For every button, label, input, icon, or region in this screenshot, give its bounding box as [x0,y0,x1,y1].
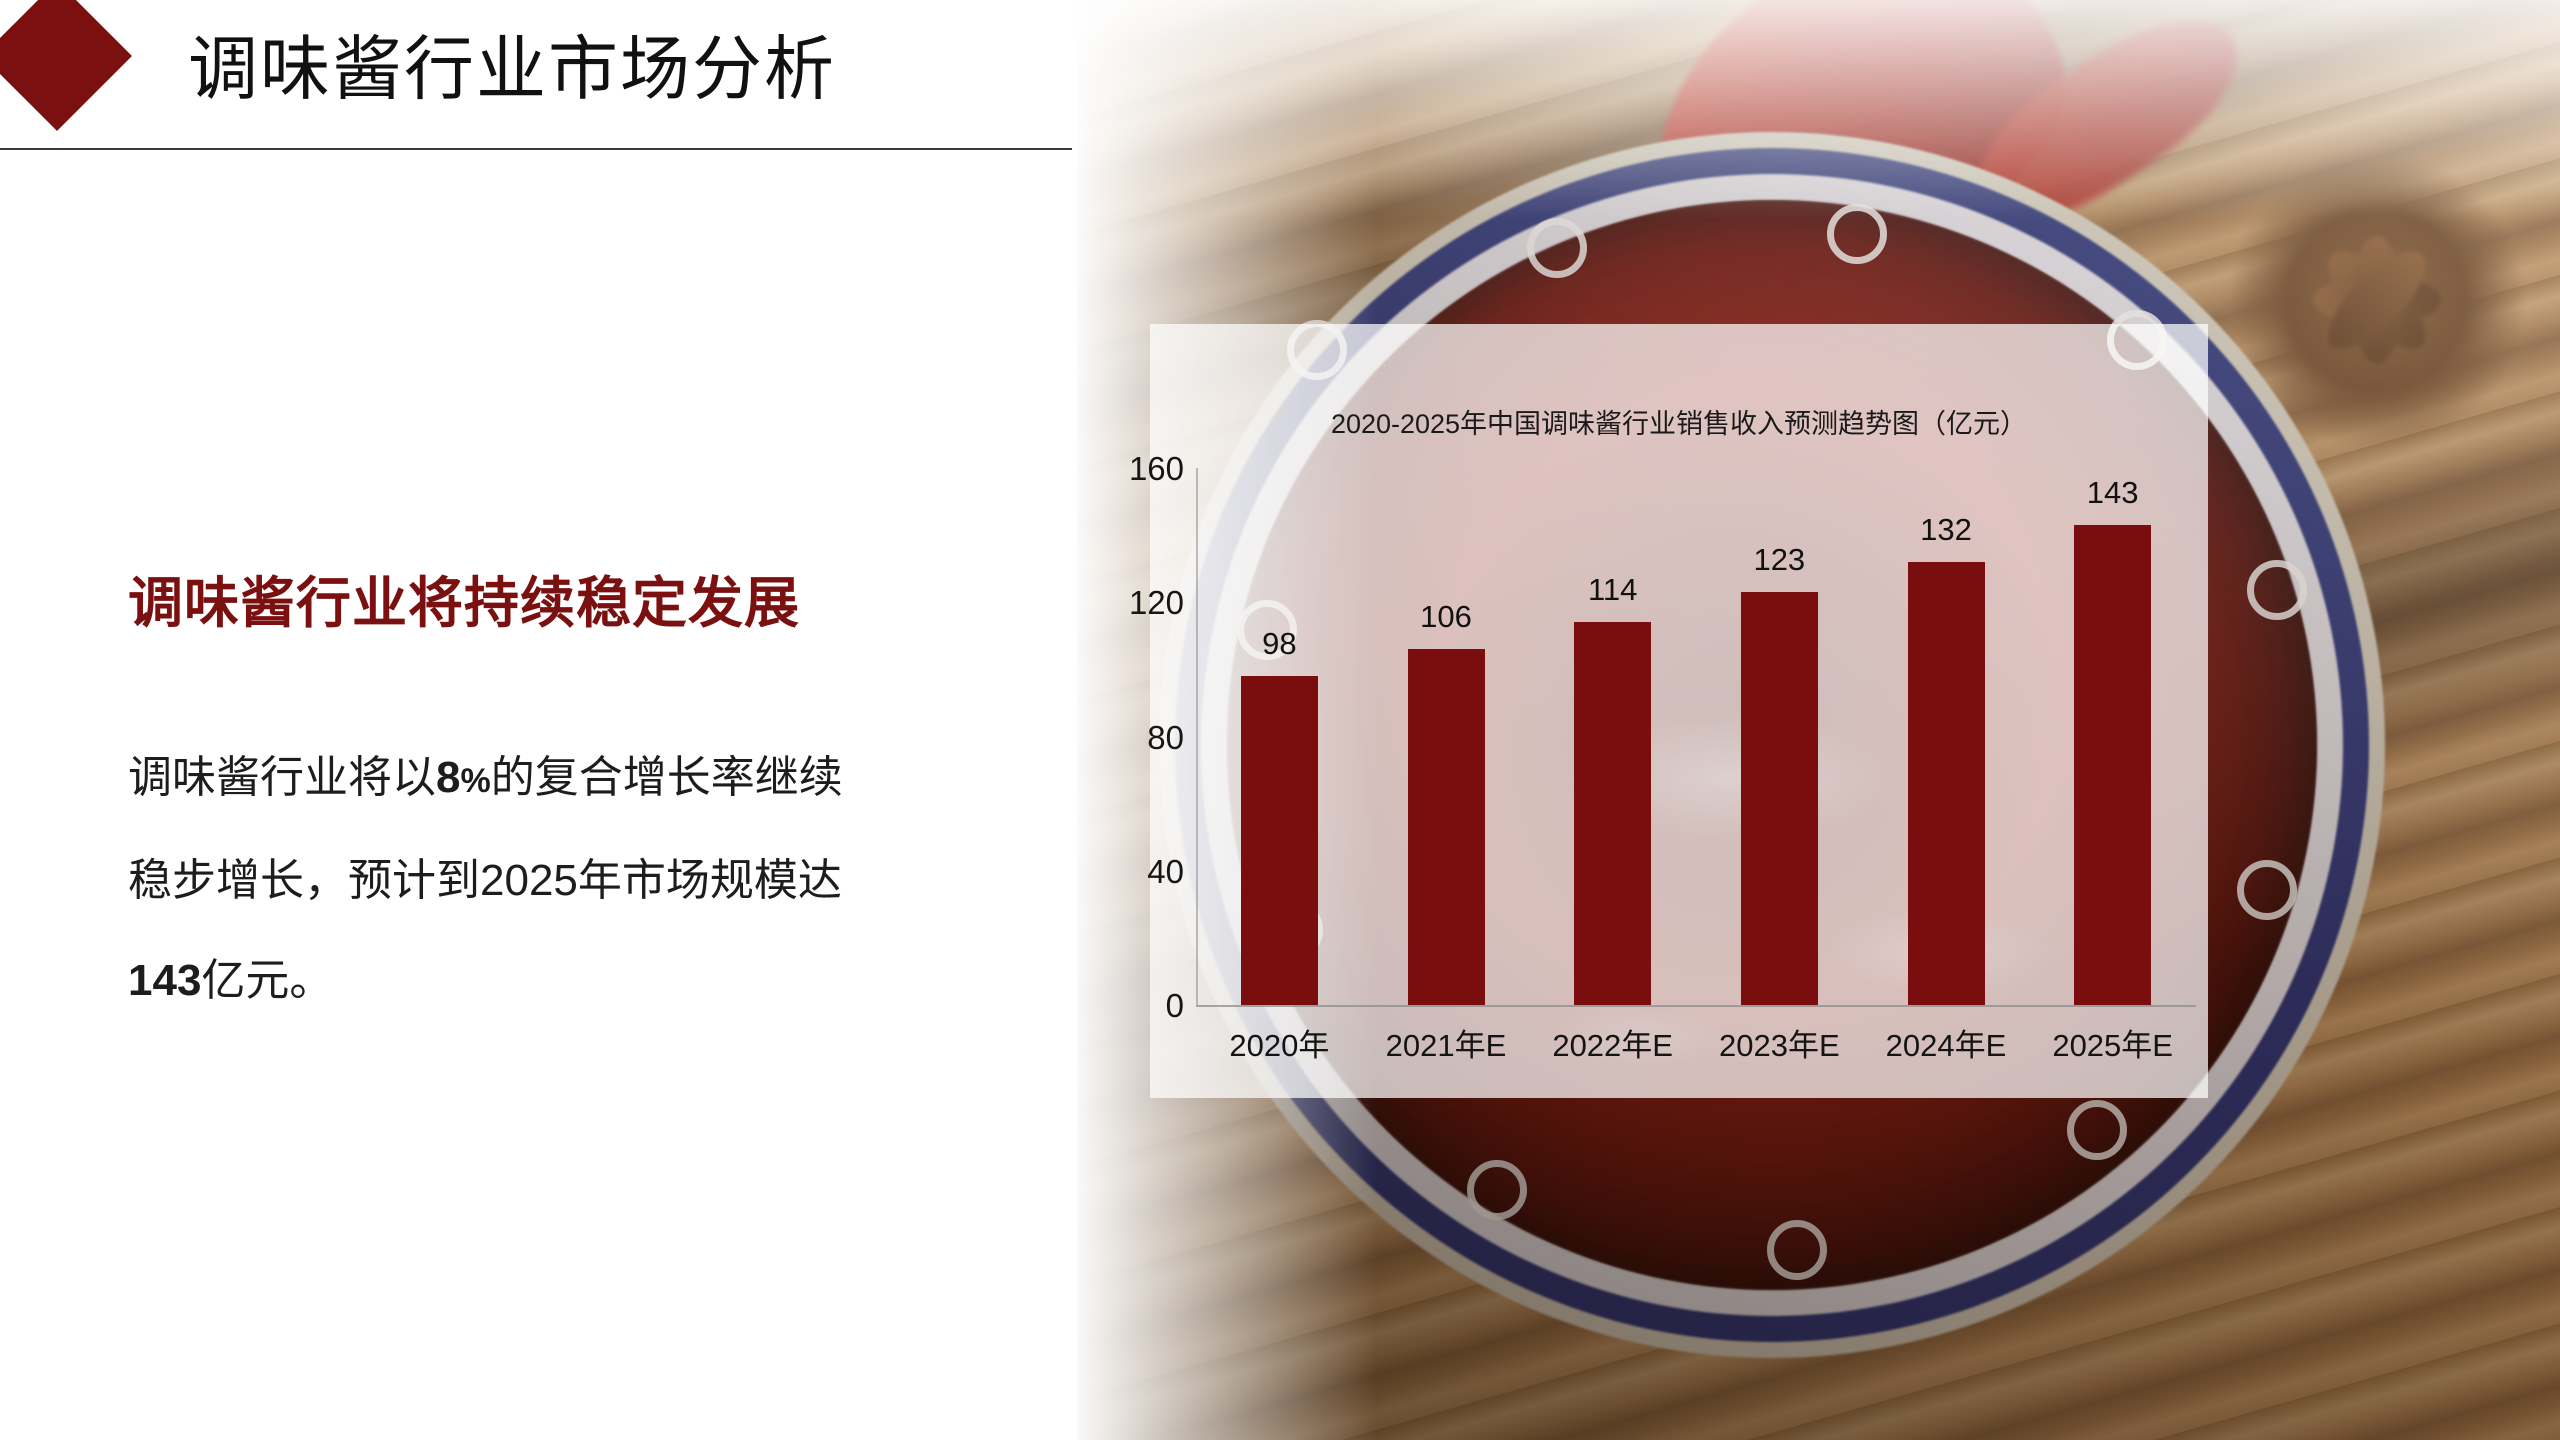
paragraph-line-1-text-a: 调味酱行业将以 [128,753,436,802]
y-axis-tick-label: 160 [1064,452,1184,485]
paragraph-market-size: 143 [128,956,201,1005]
x-axis-category-label: 2021年E [1356,1028,1536,1064]
paragraph-percent-sign: % [460,762,490,800]
bar-value-label: 123 [1709,544,1849,575]
paragraph-growth-rate: 8 [436,753,460,802]
bar [1241,676,1318,1005]
bar-value-label: 114 [1543,574,1683,605]
y-axis-line [1196,468,1198,1005]
y-axis-tick-label: 120 [1064,586,1184,619]
chart-title: 2020-2025年中国调味酱行业销售收入预测趋势图（亿元） [1150,402,2208,441]
x-axis-category-label: 2020年 [1189,1028,1369,1064]
body-paragraph: 调味酱行业将以8%的复合增长率继续 稳步增长，预计到2025年市场规模达 143… [128,728,948,1031]
x-axis-category-label: 2025年E [2023,1028,2203,1064]
y-axis-tick-label: 40 [1064,855,1184,888]
bar-chart-plot-area: 16012080400 98106114123132143 2020年2021年… [1196,468,2196,1005]
header-divider [0,148,1072,150]
bar [2074,525,2151,1005]
bar [1408,649,1485,1005]
page-title: 调味酱行业市场分析 [188,26,836,112]
bar-value-label: 143 [2043,477,2183,508]
bar [1741,592,1818,1005]
diamond-bullet-icon [0,0,132,131]
y-axis-tick-label: 0 [1064,989,1184,1022]
bar [1574,622,1651,1005]
slide-canvas: 调味酱行业市场分析 调味酱行业将持续稳定发展 调味酱行业将以8%的复合增长率继续… [0,0,2560,1440]
x-axis-category-label: 2022年E [1523,1028,1703,1064]
paragraph-line-1-text-b: 的复合增长率继续 [491,753,843,802]
y-axis-tick-label: 80 [1064,721,1184,754]
x-axis-line [1196,1005,2196,1007]
bar [1908,562,1985,1005]
bar-value-label: 98 [1209,628,1349,659]
photo-top-fade [1077,0,2560,220]
paragraph-line-3: 143亿元。 [128,931,948,1031]
lead-heading: 调味酱行业将持续稳定发展 [128,568,800,638]
bar-value-label: 132 [1876,514,2016,545]
paragraph-line-1: 调味酱行业将以8%的复合增长率继续 [128,728,948,831]
x-axis-category-label: 2023年E [1689,1028,1869,1064]
bar-value-label: 106 [1376,601,1516,632]
paragraph-line-2: 稳步增长，预计到2025年市场规模达 [128,831,948,931]
x-axis-category-label: 2024年E [1856,1028,2036,1064]
paragraph-line-3-text: 亿元。 [201,956,333,1005]
